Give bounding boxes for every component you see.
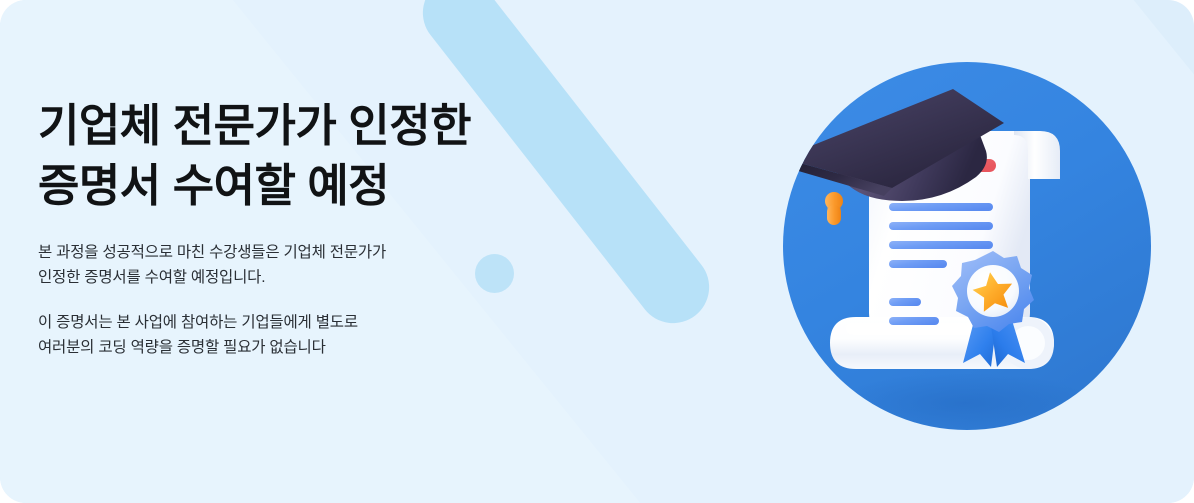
certificate-text-line — [889, 241, 993, 249]
certificate-text-line — [889, 203, 993, 211]
scroll-drop-shadow — [833, 373, 1097, 433]
certificate-text-line — [889, 222, 993, 230]
certificate-promo-banner: 기업체 전문가가 인정한 증명서 수여할 예정 본 과정을 성공적으로 마친 수… — [0, 0, 1194, 503]
certificate-text-line — [889, 298, 921, 306]
description-paragraph-2-block: 이 증명서는 본 사업에 참여하는 기업들에게 별도로 여러분의 코딩 역량을 … — [38, 310, 508, 360]
text-content-column: 기업체 전문가가 인정한 증명서 수여할 예정 본 과정을 성공적으로 마친 수… — [38, 0, 558, 503]
certificate-text-line — [889, 317, 939, 325]
description-paragraph-1-block: 본 과정을 성공적으로 마친 수강생들은 기업체 전문가가 인정한 증명서를 수… — [38, 240, 508, 290]
description-paragraph-1: 본 과정을 성공적으로 마친 수강생들은 기업체 전문가가 인정한 증명서를 수… — [38, 240, 508, 290]
certificate-illustration — [760, 55, 1180, 435]
description-paragraph-2: 이 증명서는 본 사업에 참여하는 기업들에게 별도로 여러분의 코딩 역량을 … — [38, 310, 508, 360]
page-title: 기업체 전문가가 인정한 증명서 수여할 예정 — [38, 96, 471, 216]
certificate-text-line — [889, 260, 947, 268]
graduation-cap-tassel-skirt — [827, 205, 841, 225]
